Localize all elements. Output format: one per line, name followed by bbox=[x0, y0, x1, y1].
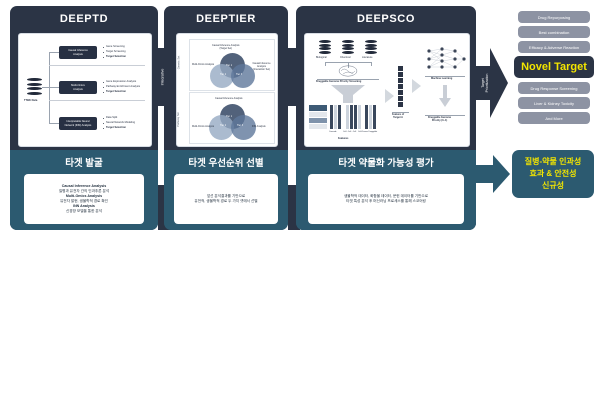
panel-deeptd-diagram: TTBK Data Causal Inference Analysis Gene… bbox=[18, 33, 152, 147]
heatmap-col-label: Cell-Cancer Druggable bbox=[358, 131, 377, 134]
panel-deeptier-title: DEEPTIER bbox=[164, 6, 288, 32]
panel-deeptier-footer: 타겟 우선순위 선별 앞선 분석결과를 기반으로 유전적, 생물학적 경로 두 … bbox=[164, 150, 288, 230]
bullet-label: Gene Expression Analysis bbox=[106, 80, 136, 84]
feature-vector bbox=[398, 90, 403, 95]
right-item-and-more[interactable]: And More bbox=[518, 112, 590, 124]
heatmap-grid bbox=[373, 105, 376, 129]
right-item-novel-target[interactable]: Novel Target bbox=[514, 56, 594, 78]
foot-line: 타겟 특성 분석 후 머신러닝 프로세스를 통해 스코어링 bbox=[346, 199, 426, 204]
score-arrow-icon bbox=[439, 85, 451, 107]
heatmap-grid bbox=[369, 105, 372, 129]
heatmap-grid bbox=[365, 105, 368, 129]
panel-deeptier-foot-title: 타겟 우선순위 선별 bbox=[164, 155, 288, 169]
heatmap-grid bbox=[309, 112, 327, 117]
bullet-label: Target Screening bbox=[106, 50, 126, 54]
panel-deepsco-title: DEEPSCO bbox=[296, 6, 476, 32]
brain-network-icon bbox=[338, 65, 358, 77]
heatmap-grid bbox=[338, 105, 341, 129]
chevron-right-icon-1 bbox=[385, 89, 394, 103]
source-label: Literature bbox=[362, 56, 373, 59]
feature-vector-label: Feature of Target A bbox=[392, 113, 404, 120]
venn-left-label: Multi-Omics Analysis bbox=[192, 125, 214, 128]
bullet-label: Pathway Enrichment Analysis bbox=[106, 85, 140, 89]
venn-sub-label: Tier 2 bbox=[220, 124, 226, 127]
venn-right-label: Causal Inference Analysis (Interaction S… bbox=[249, 62, 274, 71]
analysis-box: Causal Inference Analysis bbox=[59, 46, 97, 59]
venn-left-label: Multi-Omics Analysis bbox=[192, 63, 214, 66]
bullet-label: Target Selection bbox=[106, 90, 126, 94]
bullet-label: Data Split bbox=[106, 116, 117, 120]
outcome-line: 질병-약물 인과성 bbox=[525, 156, 581, 168]
outcome-line: 신규성 bbox=[542, 180, 564, 192]
right-item-efficacy-adverse-reaction[interactable]: Efficacy & Adverse Reaction bbox=[518, 41, 590, 53]
heatmap-grid bbox=[309, 124, 327, 129]
analysis-box: Interpretable Neural Network (INN) Analy… bbox=[59, 117, 97, 130]
feature-vector bbox=[398, 96, 403, 101]
source-label: Biological bbox=[316, 56, 327, 59]
heatmap-grid bbox=[358, 105, 361, 129]
venn-center-label: Tier 1 bbox=[226, 64, 232, 67]
analysis-box-line1: Interpretable Neural Network (INN) Analy… bbox=[65, 120, 92, 127]
outcome-box: 질병-약물 인과성 효과 & 안전성 신규성 bbox=[512, 150, 594, 198]
heatmap-grid bbox=[309, 118, 327, 123]
panel-deeptier-foot-box: 앞선 분석결과를 기반으로 유전적, 생물학적 경로 두 가지 셋에서 선별 bbox=[174, 174, 278, 224]
right-item-best-combination[interactable]: Best combination bbox=[518, 26, 590, 38]
venn-right-label: INN Analysis bbox=[252, 125, 266, 128]
venn-sub-label: Tier 3 bbox=[237, 124, 243, 127]
heatmap-grid bbox=[354, 105, 357, 129]
right-item-drug-response-screening[interactable]: Drug Response Screening bbox=[518, 82, 590, 94]
bullet-label: Neural Network Modeling bbox=[106, 121, 135, 125]
panel-deeptd-data-label: TTBK Data bbox=[24, 99, 37, 103]
database-icon-literature bbox=[365, 40, 377, 54]
venn-center-label: Tier 1 bbox=[226, 115, 232, 118]
axis-label-pathway-set: Pathway Set bbox=[177, 112, 180, 127]
chevron-right-icon-2 bbox=[412, 79, 421, 93]
panel-deeptd-footer: 타겟 발굴 Causal Inference Analysis 질병과 유전자 … bbox=[10, 150, 158, 230]
venn-sub-label: Tier 2 bbox=[220, 73, 226, 76]
bullet-label: Target Selection bbox=[106, 55, 126, 59]
right-item-liver-kidney-toxicity[interactable]: Liver & Kidney Toxicity bbox=[518, 97, 590, 109]
heatmap-col-label: Cell - Cell - Cell bbox=[343, 131, 356, 134]
feature-vector bbox=[398, 66, 403, 71]
diagram-canvas: DEEPTD TTBK Data Causal Inference Analys… bbox=[0, 0, 600, 400]
feature-vector bbox=[398, 72, 403, 77]
panel-deeptd-title: DEEPTD bbox=[10, 6, 158, 32]
heatmap-col-label: Cascade bbox=[329, 131, 336, 134]
panel-deepsco-footer: 타겟 약물화 가능성 평가 생물학적 데이터, 화합물 데이터, 문헌 데이터를… bbox=[296, 150, 476, 230]
venn-top-label: Causal Inference Analysis bbox=[215, 97, 243, 100]
venn-card-genetic: Causal Inference Analysis (Target Set) T… bbox=[189, 39, 275, 91]
panel-deeptd-foot-title: 타겟 발굴 bbox=[10, 155, 158, 169]
panel-deepsco-diagram: Biological Chemical Literature Druggable… bbox=[304, 33, 470, 147]
right-item-drug-repurposing[interactable]: Drug Repurposing bbox=[518, 11, 590, 23]
score-label: Druggable Genome Priority (0~1) bbox=[428, 116, 451, 123]
target-prioritization-arrow: Target Prioritization bbox=[472, 48, 508, 118]
neural-network-icon bbox=[424, 46, 468, 72]
panel-deeptier-diagram: Genetic Set Pathway Set Causal Inference… bbox=[176, 33, 278, 147]
analysis-box-line1: Causal Inference Analysis bbox=[68, 49, 88, 56]
foot-line: 신경망 모델을 통한 분석 bbox=[66, 209, 102, 214]
analysis-box-line1: Multi-Omics Analysis bbox=[71, 84, 85, 91]
venn-top-label: Causal Inference Analysis (Target Set) bbox=[212, 44, 240, 50]
outcome-line: 효과 & 안전성 bbox=[529, 168, 576, 180]
axis-label-genetic-set: Genetic Set bbox=[177, 56, 180, 70]
ml-label: Machine Learning bbox=[431, 77, 452, 80]
venn-sub-label: Tier 3 bbox=[236, 73, 242, 76]
feature-vector bbox=[398, 78, 403, 83]
analysis-box: Multi-Omics Analysis bbox=[59, 81, 97, 94]
panel-deeptier: DEEPTIER Genetic Set Pathway Set Causal … bbox=[164, 6, 288, 230]
panel-deeptd: DEEPTD TTBK Data Causal Inference Analys… bbox=[10, 6, 158, 230]
funnel-arrow-icon bbox=[331, 85, 365, 103]
source-label: Chemical bbox=[340, 56, 350, 59]
feature-vector bbox=[398, 84, 403, 89]
heatmap-x-label: Features bbox=[338, 137, 348, 140]
heatmap-grid bbox=[330, 105, 333, 129]
panel-deepsco: DEEPSCO Biological Chemical Literature bbox=[296, 6, 476, 230]
venn-card-pathway: Causal Inference Analysis Tier 1 Tier 2 … bbox=[189, 92, 275, 144]
bullet-label: Gene Screening bbox=[106, 45, 125, 49]
panel-deepsco-foot-title: 타겟 약물화 가능성 평가 bbox=[296, 155, 476, 169]
panel-deepsco-foot-box: 생물학적 데이터, 화합물 데이터, 문헌 데이터를 기반으로 타겟 특성 분석… bbox=[308, 174, 464, 224]
heatmap-grid bbox=[350, 105, 353, 129]
screening-label: Druggable Genome Priority Screening bbox=[316, 80, 361, 83]
panel-deeptd-foot-box: Causal Inference Analysis 질병과 유전자 간의 인과추… bbox=[24, 174, 144, 224]
heatmap-row-header bbox=[309, 105, 327, 111]
feature-vector bbox=[398, 102, 403, 107]
heatmap-grid bbox=[346, 105, 349, 129]
heatmap-grid bbox=[334, 105, 337, 129]
foot-line: 유전적, 생물학적 경로 두 가지 셋에서 선별 bbox=[194, 199, 257, 204]
database-icon-biological bbox=[319, 40, 331, 54]
target-prioritization-label: Target Prioritization bbox=[481, 74, 490, 93]
outcome-arrow bbox=[476, 155, 510, 193]
bullet-label: Target Selection bbox=[106, 126, 126, 130]
database-icon bbox=[27, 78, 42, 96]
database-icon-chemical bbox=[342, 40, 354, 54]
